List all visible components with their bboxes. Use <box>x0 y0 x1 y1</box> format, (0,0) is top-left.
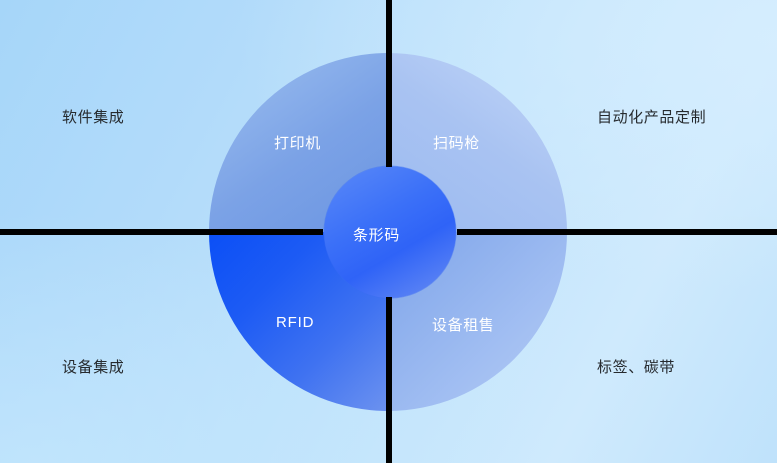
outer-label-equipment-integration: 设备集成 <box>62 356 124 377</box>
core-label: 条形码 <box>353 224 400 245</box>
outer-label-labels-ribbons: 标签、碳带 <box>597 356 675 377</box>
outer-label-software-integration: 软件集成 <box>62 106 124 127</box>
axis-arm-top <box>386 0 392 167</box>
axis-arm-right <box>457 229 777 235</box>
inner-label-printer: 打印机 <box>274 132 321 153</box>
inner-label-scanner: 扫码枪 <box>433 132 480 153</box>
inner-label-rfid: RFID <box>276 314 314 331</box>
axis-arm-left <box>0 229 323 235</box>
outer-label-automation-customization: 自动化产品定制 <box>597 106 706 127</box>
inner-label-equipment-rental: 设备租售 <box>432 314 494 335</box>
axis-arm-bottom <box>386 297 392 463</box>
diagram-canvas: 条形码 打印机 扫码枪 RFID 设备租售 软件集成 自动化产品定制 设备集成 … <box>0 0 777 463</box>
